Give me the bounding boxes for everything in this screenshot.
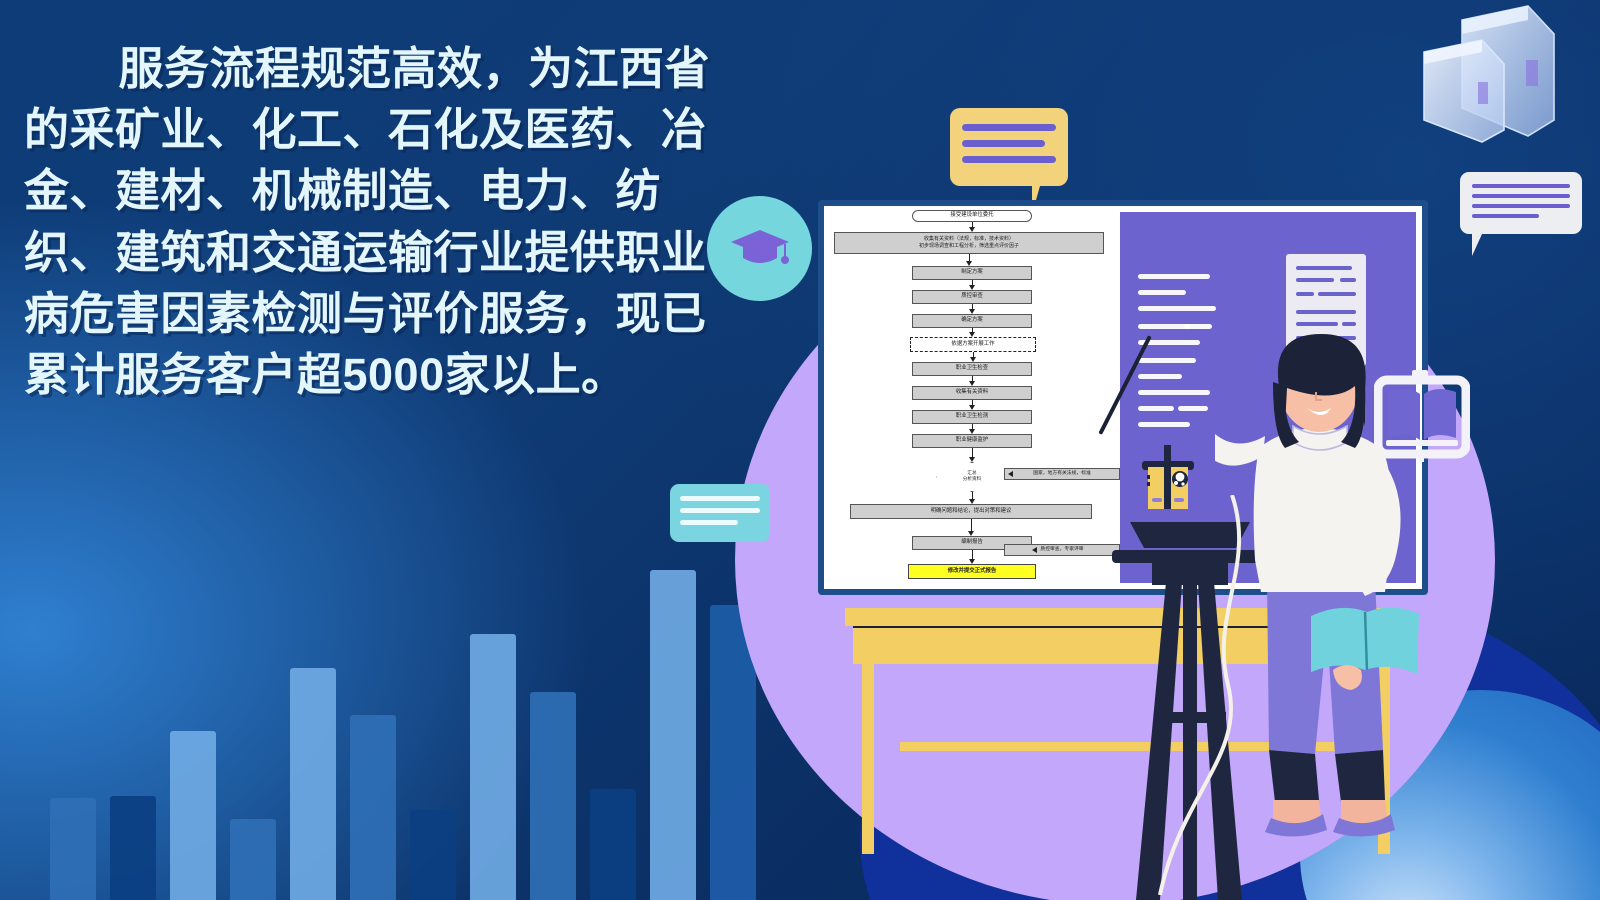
flowchart-arrowhead <box>969 227 975 232</box>
chalkboard-line <box>1178 406 1208 411</box>
chart-bar <box>590 789 636 900</box>
flowchart-arrowhead <box>970 357 976 362</box>
flowchart-arrowhead <box>969 559 975 564</box>
headline-line-3: 金、建材、机械制造、电力、纺 <box>24 160 764 221</box>
graduation-cap-icon <box>729 227 791 271</box>
flowchart-arrowhead <box>968 531 974 536</box>
flowchart-arrowhead <box>1008 471 1013 477</box>
headline-line-4: 织、建筑和交通运输行业提供职业 <box>24 222 764 283</box>
speech-bubble-lines <box>962 124 1056 172</box>
desk-leg-left <box>862 664 874 854</box>
speech-bubble-tail <box>1472 234 1494 256</box>
speech-bubble-lines <box>1472 184 1570 224</box>
chart-bar <box>110 796 156 900</box>
chart-bar <box>290 668 336 900</box>
headline-line-5: 病危害因素检测与评价服务，现已 <box>24 283 764 344</box>
chart-bar <box>170 731 216 900</box>
chalkboard-line <box>1138 306 1216 311</box>
flowchart-arrowhead <box>1032 547 1037 553</box>
flowchart-node: 修改并提交正式报告 <box>908 564 1036 579</box>
flowchart-node: 明确问题和结论，提出对策和建议 <box>850 504 1092 519</box>
headline-line-2: 的采矿业、化工、石化及医药、冶 <box>24 99 764 160</box>
flowchart-node: 职业卫生检测 <box>912 410 1032 424</box>
speech-bubble-white <box>1460 172 1582 234</box>
flowchart-arrowhead <box>969 332 975 337</box>
flowchart-arrowhead <box>969 499 975 504</box>
speech-bubble-lines <box>680 496 760 532</box>
chalkboard-line <box>1138 358 1196 363</box>
flowchart-node: 收集有关资料 <box>912 386 1032 400</box>
flowchart-node: 接受建设单位委托 <box>912 210 1032 222</box>
flowchart-node: 职业卫生检查 <box>912 362 1032 376</box>
books-icon <box>1378 4 1578 184</box>
chart-bar <box>410 810 456 900</box>
flowchart-node: 依据方案开展工作 <box>910 337 1036 352</box>
chalkboard-line <box>1138 290 1186 295</box>
headline-line-6: 累计服务客户超5000家以上。 <box>24 344 764 405</box>
chalkboard-line <box>1138 390 1210 395</box>
flowchart-node: 确定方案 <box>912 314 1032 328</box>
flowchart-arrowhead <box>969 429 975 434</box>
page-title: 服务流程规范高效，为江西省 的采矿业、化工、石化及医药、冶 金、建材、机械制造、… <box>24 38 764 405</box>
chalkboard-line <box>1138 374 1182 379</box>
chart-bar <box>50 798 96 900</box>
flowchart-arrowhead <box>969 309 975 314</box>
chart-bar <box>350 715 396 900</box>
flowchart-node: 收集有关资料（法规，标准，技术资料） 初步现场调查和工程分析，筛选重点评价因子 <box>834 232 1104 254</box>
chalkboard-line <box>1138 324 1190 329</box>
flowchart-arrowhead <box>969 285 975 290</box>
headline-line-1: 服务流程规范高效，为江西省 <box>24 38 764 99</box>
speech-bubble-teal <box>670 484 770 542</box>
chart-bar <box>230 819 276 900</box>
teacher-illustration <box>1215 330 1430 860</box>
flowchart-node: 质控审查 <box>912 290 1032 304</box>
chart-bar <box>530 692 576 900</box>
graduation-cap-badge <box>707 196 812 301</box>
flowchart-node: 职业健康监护 <box>912 434 1032 448</box>
flowchart-arrowhead <box>969 405 975 410</box>
flowchart-node: 汇总 分析资料 <box>936 462 1008 492</box>
chart-bar <box>470 634 516 900</box>
chart-bar <box>650 570 696 900</box>
flowchart-side-note: 国家，地方有关法规，标准 <box>1004 468 1120 480</box>
chalkboard-line <box>1184 324 1212 329</box>
flowchart-arrowhead <box>969 457 975 462</box>
flowchart-arrowhead <box>969 381 975 386</box>
poster-canvas: 服务流程规范高效，为江西省 的采矿业、化工、石化及医药、冶 金、建材、机械制造、… <box>0 0 1600 900</box>
chalkboard-line <box>1138 406 1174 411</box>
flowchart-node: 制定方案 <box>912 266 1032 280</box>
chalkboard-line <box>1138 422 1190 427</box>
speech-bubble-yellow <box>950 108 1068 186</box>
chalkboard-line <box>1138 274 1210 279</box>
flowchart-node-label: 汇总 分析资料 <box>963 471 981 483</box>
flowchart-arrowhead <box>966 261 972 266</box>
